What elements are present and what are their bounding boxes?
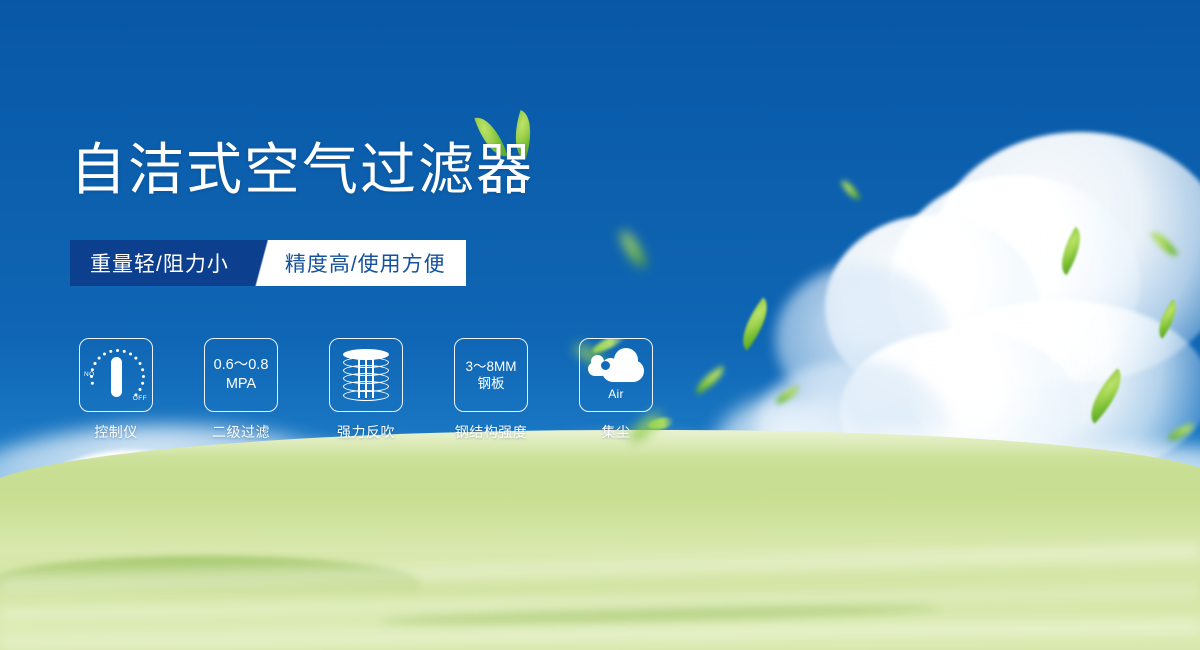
dial-off-label: OFF [133, 395, 147, 402]
steel-material: 钢板 [465, 375, 516, 392]
feature-icon-box [329, 338, 403, 412]
pressure-range: 0.6〜0.8 [214, 356, 269, 375]
steel-thickness: 3〜8MM [465, 358, 516, 375]
subtitle-bar: 重量轻/阻力小 精度高/使用方便 [70, 240, 466, 286]
air-cloud-icon [588, 348, 644, 386]
banner-content: 自洁式空气过滤器 重量轻/阻力小 精度高/使用方便 [0, 0, 1200, 650]
feature-item-steel[interactable]: 3〜8MM 钢板 钢结构强度 [453, 338, 529, 442]
subtitle-divider-slash [251, 240, 277, 286]
steel-plate-text-icon: 3〜8MM 钢板 [465, 358, 516, 393]
dial-pointer [111, 357, 122, 397]
feature-caption: 强力反吹 [337, 422, 395, 442]
feature-item-control[interactable]: NO OFF 控制仪 [78, 338, 154, 442]
feature-caption: 集尘 [602, 422, 631, 442]
feature-icon-box: 3〜8MM 钢板 [454, 338, 528, 412]
feature-icon-row: NO OFF 控制仪 0.6〜0.8 MPA 二级过滤 [78, 338, 654, 442]
product-banner: 自洁式空气过滤器 重量轻/阻力小 精度高/使用方便 [0, 0, 1200, 650]
subtitle-right-text: 精度高/使用方便 [277, 240, 466, 286]
feature-item-dust[interactable]: Air 集尘 [578, 338, 654, 442]
feature-icon-box: NO OFF [79, 338, 153, 412]
feature-caption: 控制仪 [94, 422, 138, 442]
control-dial-icon: NO OFF [85, 344, 147, 406]
dial-on-label: NO [84, 371, 95, 378]
feature-item-pressure[interactable]: 0.6〜0.8 MPA 二级过滤 [203, 338, 279, 442]
subtitle-left-text: 重量轻/阻力小 [70, 240, 251, 286]
cloud-notch [601, 361, 610, 370]
feature-icon-box: Air [579, 338, 653, 412]
banner-title: 自洁式空气过滤器 [70, 142, 534, 198]
pressure-unit: MPA [214, 375, 269, 394]
pressure-text-icon: 0.6〜0.8 MPA [214, 356, 269, 393]
stack-ring [343, 390, 389, 401]
feature-icon-box: 0.6〜0.8 MPA [204, 338, 278, 412]
feature-caption: 二级过滤 [212, 422, 270, 442]
feature-item-blowback[interactable]: 强力反吹 [328, 338, 404, 442]
air-label: Air [608, 387, 624, 401]
filter-stack-icon [343, 349, 389, 401]
feature-caption: 钢结构强度 [455, 422, 528, 442]
